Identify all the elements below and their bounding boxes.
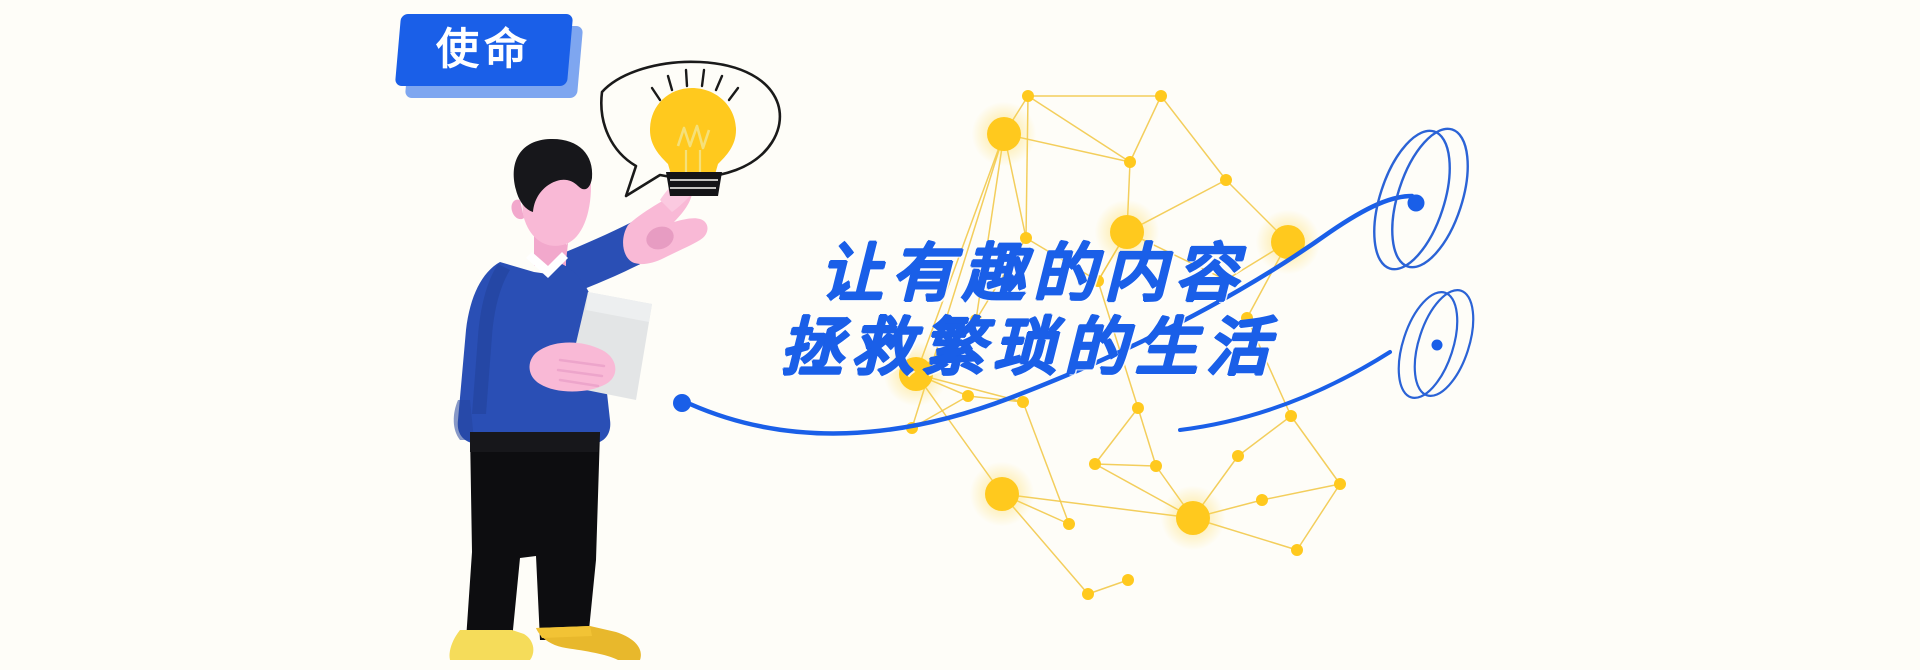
network-edge <box>1193 500 1262 518</box>
orbit-lower-icon <box>1387 283 1485 405</box>
network-node <box>1334 478 1346 490</box>
network-node <box>1176 501 1210 535</box>
network-edge <box>1161 96 1226 180</box>
network-node <box>1122 574 1134 586</box>
pointing-arm <box>540 168 708 300</box>
network-node-glow <box>1161 486 1226 551</box>
network-node <box>1082 588 1094 600</box>
network-node <box>1124 156 1136 168</box>
banner-canvas: 让有趣的内容 拯救繁琐的生活 <box>0 0 1920 670</box>
network-node <box>1132 402 1144 414</box>
network-edge <box>1130 96 1161 162</box>
network-node <box>987 117 1021 151</box>
network-edge <box>1193 518 1297 550</box>
network-edge <box>1002 494 1193 518</box>
clipboard-document <box>566 292 652 400</box>
headline-line-1: 让有趣的内容 <box>820 237 1277 311</box>
network-node-glow <box>972 102 1037 167</box>
network-edge <box>1127 180 1226 232</box>
lightbulb-rays <box>652 70 738 100</box>
network-node <box>1150 460 1162 472</box>
network-edge <box>1088 580 1128 594</box>
network-node <box>1291 544 1303 556</box>
network-edge <box>1002 494 1069 524</box>
network-edge <box>1028 96 1130 162</box>
orbit-upper-icon <box>1359 120 1482 279</box>
network-edge <box>1002 494 1088 594</box>
network-node <box>1220 174 1232 186</box>
holding-hand <box>530 343 616 392</box>
person-torso <box>454 252 611 444</box>
network-node-glow <box>970 462 1035 527</box>
orbit-lower-dot <box>1432 340 1443 351</box>
network-edge <box>1291 416 1340 484</box>
mission-badge-face[interactable]: 使命 <box>395 14 573 86</box>
network-edge <box>1193 456 1238 518</box>
speech-bubble-outline <box>601 62 780 196</box>
network-edge <box>1095 408 1138 464</box>
network-edge <box>1127 162 1130 232</box>
network-edge <box>1156 466 1193 518</box>
person-head <box>511 139 592 262</box>
network-edge <box>1238 416 1291 456</box>
lightbulb-base <box>666 172 722 196</box>
headline: 让有趣的内容 拯救繁琐的生活 <box>820 237 1277 385</box>
network-edge <box>1095 464 1156 466</box>
orbit-upper-dot <box>1408 195 1425 212</box>
network-edge <box>1226 180 1288 242</box>
network-edge <box>968 396 1023 402</box>
network-node <box>1232 450 1244 462</box>
network-edge <box>1004 134 1026 238</box>
network-edge <box>1004 96 1028 134</box>
network-edge <box>912 396 968 428</box>
headline-line-2: 拯救繁琐的生活 <box>780 311 1277 385</box>
network-edge <box>1138 408 1156 466</box>
network-edge <box>1297 484 1340 550</box>
blue-curve-start-dot <box>673 394 691 412</box>
network-edge <box>1026 96 1028 238</box>
person-shoes <box>449 626 640 660</box>
lightbulb-glass <box>650 88 736 178</box>
mission-badge-label: 使命 <box>436 29 532 72</box>
person-trousers <box>466 432 600 640</box>
network-node <box>1285 410 1297 422</box>
network-edge <box>1023 402 1069 524</box>
network-node <box>1017 396 1029 408</box>
network-node <box>906 422 918 434</box>
network-edge <box>1262 484 1340 500</box>
network-edge <box>1095 464 1193 518</box>
network-node <box>1063 518 1075 530</box>
network-node <box>1155 90 1167 102</box>
network-edge <box>916 374 1002 494</box>
network-node <box>962 390 974 402</box>
network-node <box>1089 458 1101 470</box>
mission-badge[interactable]: 使命 <box>398 14 570 86</box>
lightbulb-filament <box>678 126 709 148</box>
network-node <box>985 477 1019 511</box>
network-node <box>1022 90 1034 102</box>
network-edge <box>1004 134 1130 162</box>
network-node <box>1256 494 1268 506</box>
